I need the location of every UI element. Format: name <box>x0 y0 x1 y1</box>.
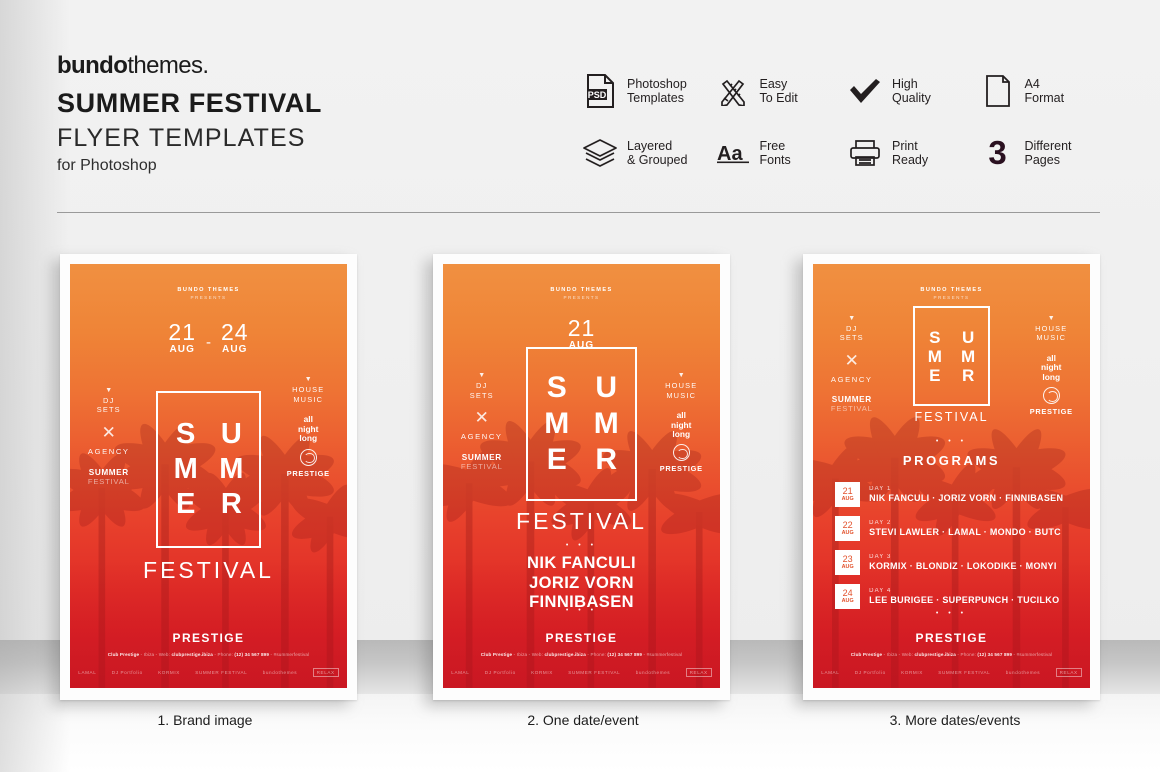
summer-logo-box: S U M M E R <box>913 306 991 406</box>
brand-logo-light: themes. <box>127 52 208 79</box>
sponsor-logos: LAMAL DJ Portfolio KORMIX SUMMER FESTIVA… <box>451 668 711 677</box>
dots-separator-top: • • • <box>813 438 1090 445</box>
poster-more-dates[interactable]: BUNDO THEMES PRESENTS ▼ DJSETS ✕ AGENCY … <box>803 254 1100 700</box>
agency-label: AGENCY <box>451 432 512 441</box>
poster-lineup: NIK FANCULI JORIZ VORN FINNIBASEN <box>443 554 720 612</box>
dj-sets-label: DJSETS <box>451 381 512 400</box>
feature-print-ready: PrintReady <box>845 122 978 184</box>
prestige-small-label: PRESTIGE <box>278 469 339 478</box>
sponsor-logo: DJ Portfolio <box>485 670 516 675</box>
sponsor-logo: SUMMER FESTIVAL <box>195 670 247 675</box>
summer-festival-small: SUMMER FESTIVAL <box>78 468 139 486</box>
triangle-down-icon: ▼ <box>1021 315 1082 322</box>
sponsor-logo: bundothemes <box>263 670 297 675</box>
number-three-icon: 3 <box>978 131 1018 175</box>
program-day-label: DAY 2 <box>869 519 1061 527</box>
prestige-circle-icon <box>300 449 317 466</box>
lineup-artist: JORIZ VORN <box>443 574 720 593</box>
date-from: 21 AUG <box>168 321 196 355</box>
poster-caption-3: 3. More dates/events <box>805 712 1105 728</box>
page-icon <box>978 69 1018 113</box>
page-title: SUMMER FESTIVAL <box>57 88 322 119</box>
poster-contact-line: Club Prestige - Ibiza - Web: clubprestig… <box>443 652 720 657</box>
all-night-long-label: all night long <box>651 411 712 439</box>
program-info: DAY 3 KORMIX · BLONDIZ · LOKODIKE · MONY… <box>869 553 1057 572</box>
dj-sets-label: DJSETS <box>78 396 139 415</box>
dots-separator-bottom: • • • <box>443 607 720 614</box>
page-subtitle: FLYER TEMPLATES <box>57 124 306 153</box>
dots-separator-top: • • • <box>443 542 720 549</box>
program-acts: STEVI LAWLER · LAMAL · MONDO · BUTC <box>869 527 1061 538</box>
poster-side-right: ▼ HOUSEMUSIC all night long PRESTIGE <box>278 376 339 477</box>
poster-artwork: BUNDO THEMES PRESENTS ▼ DJSETS ✕ AGENCY … <box>813 264 1090 688</box>
program-row[interactable]: 21 AUG DAY 1 NIK FANCULI · JORIZ VORN · … <box>835 482 1076 507</box>
sponsor-logo: SUMMER FESTIVAL <box>568 670 620 675</box>
house-music-label: HOUSEMUSIC <box>1021 324 1082 343</box>
program-date-badge: 24 AUG <box>835 584 860 609</box>
program-acts: KORMIX · BLONDIZ · LOKODIKE · MONYI <box>869 561 1057 572</box>
poster-side-left: ▼ DJSETS ✕ AGENCY SUMMER FESTIVAL <box>821 315 882 413</box>
feature-a4-format: A4Format <box>978 60 1111 122</box>
program-acts: LEE BURIGEE · SUPERPUNCH · TUCILKO <box>869 595 1059 606</box>
prestige-logo: PRESTIGE <box>443 631 720 645</box>
poster-artwork: BUNDO THEMES PRESENTS 21 AUG - 24 AUG <box>70 264 347 688</box>
festival-wordmark: FESTIVAL <box>813 410 1090 424</box>
brand-logo: bundothemes. <box>57 52 208 80</box>
triangle-down-icon: ▼ <box>651 372 712 379</box>
prestige-small-label: PRESTIGE <box>651 464 712 473</box>
poster-date-range: 21 AUG - 24 AUG <box>70 321 347 355</box>
poster-frame: BUNDO THEMES PRESENTS 21 AUG ▼ DJSETS ✕ … <box>433 254 730 700</box>
poster-caption-2: 2. One date/event <box>433 712 733 728</box>
program-date-badge: 22 AUG <box>835 516 860 541</box>
prestige-circle-icon <box>1043 387 1060 404</box>
x-mark-icon: ✕ <box>78 424 139 442</box>
feature-label: DifferentPages <box>1025 139 1072 168</box>
sponsor-logo: DJ Portfolio <box>855 670 886 675</box>
sponsor-logo: bundothemes <box>1006 670 1040 675</box>
program-row[interactable]: 24 AUG DAY 4 LEE BURIGEE · SUPERPUNCH · … <box>835 584 1076 609</box>
feature-layered-grouped: Layered& Grouped <box>580 122 713 184</box>
feature-label: EasyTo Edit <box>760 77 798 106</box>
feature-list: PSD PhotoshopTemplates <box>580 60 1110 184</box>
feature-label: FreeFonts <box>760 139 791 168</box>
program-date-badge: 21 AUG <box>835 482 860 507</box>
feature-free-fonts: Aa FreeFonts <box>713 122 846 184</box>
program-acts: NIK FANCULI · JORIZ VORN · FINNIBASEN <box>869 493 1063 504</box>
feature-row-top: PSD PhotoshopTemplates <box>580 60 1110 122</box>
date-to: 24 AUG <box>221 321 249 355</box>
layers-icon <box>580 131 620 175</box>
x-mark-icon: ✕ <box>821 352 882 370</box>
poster-frame: BUNDO THEMES PRESENTS ▼ DJSETS ✕ AGENCY … <box>803 254 1100 700</box>
header-divider <box>57 212 1100 213</box>
agency-label: AGENCY <box>821 375 882 384</box>
sponsor-logo: KORMIX <box>158 670 180 675</box>
triangle-down-icon: ▼ <box>78 387 139 394</box>
poster-side-left: ▼ DJSETS ✕ AGENCY SUMMER FESTIVAL <box>78 387 139 486</box>
sponsor-logo: RELAX <box>1056 668 1082 677</box>
poster-one-date[interactable]: BUNDO THEMES PRESENTS 21 AUG ▼ DJSETS ✕ … <box>433 254 730 700</box>
poster-presenter: BUNDO THEMES PRESENTS <box>70 287 347 300</box>
sponsor-logo: bundothemes <box>636 670 670 675</box>
triangle-down-icon: ▼ <box>451 372 512 379</box>
poster-side-right: ▼ HOUSEMUSIC all night long PRESTIGE <box>1021 315 1082 416</box>
feature-easy-to-edit: EasyTo Edit <box>713 60 846 122</box>
summer-letters: S U M M E R <box>919 312 985 400</box>
program-row[interactable]: 23 AUG DAY 3 KORMIX · BLONDIZ · LOKODIKE… <box>835 550 1076 575</box>
poster-presenter: BUNDO THEMES PRESENTS <box>443 287 720 300</box>
page-tagline: for Photoshop <box>57 157 157 175</box>
aa-font-icon: Aa <box>713 131 753 175</box>
house-music-label: HOUSEMUSIC <box>278 385 339 404</box>
feature-row-bottom: Layered& Grouped Aa FreeFonts <box>580 122 1110 184</box>
prestige-logo: PRESTIGE <box>70 631 347 645</box>
sponsor-logo: RELAX <box>686 668 712 677</box>
sponsor-logo: SUMMER FESTIVAL <box>938 670 990 675</box>
sponsor-logo: LAMAL <box>821 670 839 675</box>
triangle-down-icon: ▼ <box>278 376 339 383</box>
feature-label: PrintReady <box>892 139 928 168</box>
program-info: DAY 2 STEVI LAWLER · LAMAL · MONDO · BUT… <box>869 519 1061 538</box>
program-info: DAY 4 LEE BURIGEE · SUPERPUNCH · TUCILKO <box>869 587 1059 606</box>
date-dash: - <box>202 334 215 355</box>
feature-different-pages: 3 DifferentPages <box>978 122 1111 184</box>
festival-wordmark: FESTIVAL <box>70 557 347 584</box>
psd-file-icon: PSD <box>580 69 620 113</box>
prestige-logo: PRESTIGE <box>813 631 1090 645</box>
sponsor-logo: KORMIX <box>901 670 923 675</box>
program-row[interactable]: 22 AUG DAY 2 STEVI LAWLER · LAMAL · MOND… <box>835 516 1076 541</box>
feature-label: PhotoshopTemplates <box>627 77 687 106</box>
printer-icon <box>845 131 885 175</box>
program-date-badge: 23 AUG <box>835 550 860 575</box>
poster-artwork: BUNDO THEMES PRESENTS 21 AUG ▼ DJSETS ✕ … <box>443 264 720 688</box>
program-info: DAY 1 NIK FANCULI · JORIZ VORN · FINNIBA… <box>869 485 1063 504</box>
festival-wordmark: FESTIVAL <box>443 508 720 535</box>
program-day-label: DAY 4 <box>869 587 1059 595</box>
header-section: bundothemes. SUMMER FESTIVAL FLYER TEMPL… <box>0 0 1160 214</box>
checkmark-icon <box>845 69 885 113</box>
summer-letters: S U M M E R <box>164 399 253 540</box>
pencil-ruler-icon <box>713 69 753 113</box>
summer-logo-box: S U M M E R <box>526 347 637 502</box>
feature-label: Layered& Grouped <box>627 139 687 168</box>
summer-letters: S U M M E R <box>534 355 629 494</box>
dj-sets-label: DJSETS <box>821 324 882 343</box>
summer-festival-small: SUMMER FESTIVAL <box>451 453 512 471</box>
poster-contact-line: Club Prestige - Ibiza - Web: clubprestig… <box>813 652 1090 657</box>
summer-logo-box: S U M M E R <box>156 391 261 548</box>
feature-label: A4Format <box>1025 77 1065 106</box>
feature-high-quality: HighQuality <box>845 60 978 122</box>
sponsor-logo: LAMAL <box>78 670 96 675</box>
poster-frame: BUNDO THEMES PRESENTS 21 AUG - 24 AUG <box>60 254 357 700</box>
feature-label: HighQuality <box>892 77 931 106</box>
programs-list: 21 AUG DAY 1 NIK FANCULI · JORIZ VORN · … <box>835 482 1076 618</box>
poster-brand-image[interactable]: BUNDO THEMES PRESENTS 21 AUG - 24 AUG <box>60 254 357 700</box>
poster-contact-line: Club Prestige - Ibiza - Web: clubprestig… <box>70 652 347 657</box>
triangle-down-icon: ▼ <box>821 315 882 322</box>
agency-label: AGENCY <box>78 447 139 456</box>
dots-separator-bottom: • • • <box>813 610 1090 617</box>
svg-text:PSD: PSD <box>588 90 607 100</box>
poster-presenter: BUNDO THEMES PRESENTS <box>813 287 1090 300</box>
sponsor-logos: LAMAL DJ Portfolio KORMIX SUMMER FESTIVA… <box>821 668 1081 677</box>
sponsor-logos: LAMAL DJ Portfolio KORMIX SUMMER FESTIVA… <box>78 668 338 677</box>
poster-caption-1: 1. Brand image <box>55 712 355 728</box>
lineup-artist: NIK FANCULI <box>443 554 720 573</box>
house-music-label: HOUSEMUSIC <box>651 381 712 400</box>
all-night-long-label: all night long <box>278 415 339 443</box>
feature-photoshop-templates: PSD PhotoshopTemplates <box>580 60 713 122</box>
sponsor-logo: KORMIX <box>531 670 553 675</box>
programs-title: PROGRAMS <box>813 453 1090 468</box>
poster-side-left: ▼ DJSETS ✕ AGENCY SUMMER FESTIVAL <box>451 372 512 471</box>
sponsor-logo: LAMAL <box>451 670 469 675</box>
program-day-label: DAY 1 <box>869 485 1063 493</box>
all-night-long-label: all night long <box>1021 354 1082 382</box>
poster-side-right: ▼ HOUSEMUSIC all night long PRESTIGE <box>651 372 712 473</box>
sponsor-logo: DJ Portfolio <box>112 670 143 675</box>
program-day-label: DAY 3 <box>869 553 1057 561</box>
sponsor-logo: RELAX <box>313 668 339 677</box>
x-mark-icon: ✕ <box>451 409 512 427</box>
prestige-circle-icon <box>673 444 690 461</box>
brand-logo-bold: bundo <box>57 52 127 79</box>
